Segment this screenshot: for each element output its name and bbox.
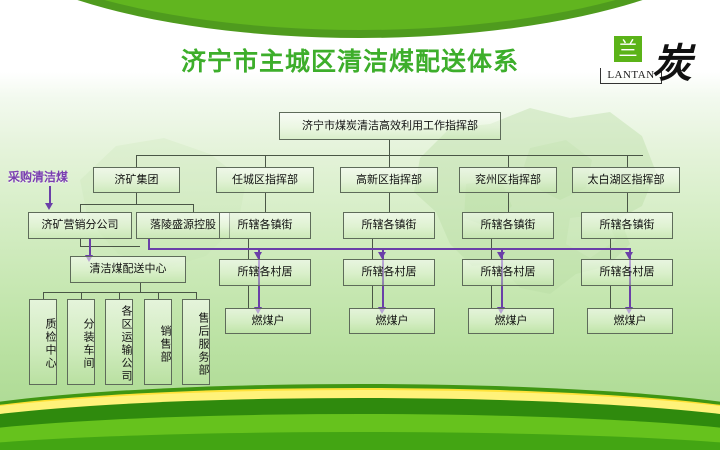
connector-dept-drop-4 [158,292,159,299]
connector-dept-drop-5 [196,292,197,299]
purple-supply-down-2 [89,238,91,256]
logo-lan-character: 兰 [614,36,642,62]
connector-center-down [140,283,141,292]
node-dept-packaging-workshop[interactable]: 分装车间 [67,299,95,385]
connector-to-luoling [193,204,194,212]
purple-arrow-village-c4 [497,252,505,259]
connector-dept-drop-3 [119,292,120,299]
connector-c5-l2-l3 [627,193,628,212]
node-luoling-shengyuan-holding[interactable]: 落陵盛源控股 [136,212,230,239]
node-towns-streets-rencheng[interactable]: 所辖各镇街 [219,212,311,239]
poster-canvas: 济宁市主城区清洁煤配送体系 兰 LANTAN 炭 [0,0,720,450]
purple-arrow-to-marketing [45,203,53,210]
node-clean-coal-distribution-center[interactable]: 清洁煤配送中心 [70,256,186,283]
purple-bus-horizontal [148,248,630,250]
node-towns-streets-taibaihu[interactable]: 所辖各镇街 [581,212,673,239]
node-dept-after-sales-service[interactable]: 售后服务部 [182,299,210,385]
brand-logo: 兰 LANTAN 炭 [600,36,704,94]
node-jikuang-marketing-branch[interactable]: 济矿营销分公司 [28,212,132,239]
connector-to-marketing [80,204,81,212]
connector-marketing-down [80,238,81,246]
node-villages-gaoxin[interactable]: 所辖各村居 [343,259,435,286]
connector-c3-l2-l3 [389,193,390,212]
connector-drop-col1 [136,155,137,167]
logo-tan-character: 炭 [652,42,692,86]
page-title: 济宁市主城区清洁煤配送体系 [120,42,580,78]
node-rencheng-command[interactable]: 任城区指挥部 [216,167,314,193]
connector-drop-col2 [265,155,266,167]
connector-drop-col4 [508,155,509,167]
connector-dept-drop-2 [81,292,82,299]
node-dept-sales[interactable]: 销售部 [144,299,172,385]
node-villages-rencheng[interactable]: 所辖各村居 [219,259,311,286]
connector-drop-col5 [627,155,628,167]
connector-jikuang-split [80,204,193,205]
connector-c2-l2-l3 [265,193,266,212]
top-decorative-banner [0,0,720,40]
purple-arrow-village-c2 [254,252,262,259]
connector-c5-l4-l5 [610,286,611,308]
node-jikuang-group[interactable]: 济矿集团 [93,167,180,193]
node-dept-district-transport-company[interactable]: 各区运输公司 [105,299,133,385]
node-coal-households-taibaihu[interactable]: 燃煤户 [587,308,673,334]
node-towns-streets-gaoxin[interactable]: 所辖各镇街 [343,212,435,239]
node-yanzhou-command[interactable]: 兖州区指挥部 [459,167,557,193]
node-coal-households-yanzhou[interactable]: 燃煤户 [468,308,554,334]
node-dept-quality-inspection-center[interactable]: 质检中心 [29,299,57,385]
node-coal-households-gaoxin[interactable]: 燃煤户 [349,308,435,334]
connector-c3-l4-l5 [372,286,373,308]
connector-dept-drop-1 [43,292,44,299]
purple-bus-riser [148,238,150,248]
purchase-clean-coal-label: 采购清洁煤 [8,168,68,185]
connector-drop-col3 [389,155,390,167]
node-towns-streets-yanzhou[interactable]: 所辖各镇街 [462,212,554,239]
purple-arrow-village-c3 [378,252,386,259]
node-coal-households-rencheng[interactable]: 燃煤户 [225,308,311,334]
node-villages-yanzhou[interactable]: 所辖各村居 [462,259,554,286]
node-gaoxin-command[interactable]: 高新区指挥部 [340,167,438,193]
connector-c4-l4-l5 [491,286,492,308]
connector-root-down [389,140,390,155]
connector-c4-l2-l3 [508,193,509,212]
purple-arrow-village-c5 [625,252,633,259]
node-villages-taibaihu[interactable]: 所辖各村居 [581,259,673,286]
purple-supply-down-1 [49,186,51,204]
connector-jikuang-down [136,193,137,204]
node-taibaihu-command[interactable]: 太白湖区指挥部 [572,167,680,193]
node-root-command-center[interactable]: 济宁市煤炭清洁高效利用工作指挥部 [279,112,501,140]
connector-c2-l4-l5 [248,286,249,308]
